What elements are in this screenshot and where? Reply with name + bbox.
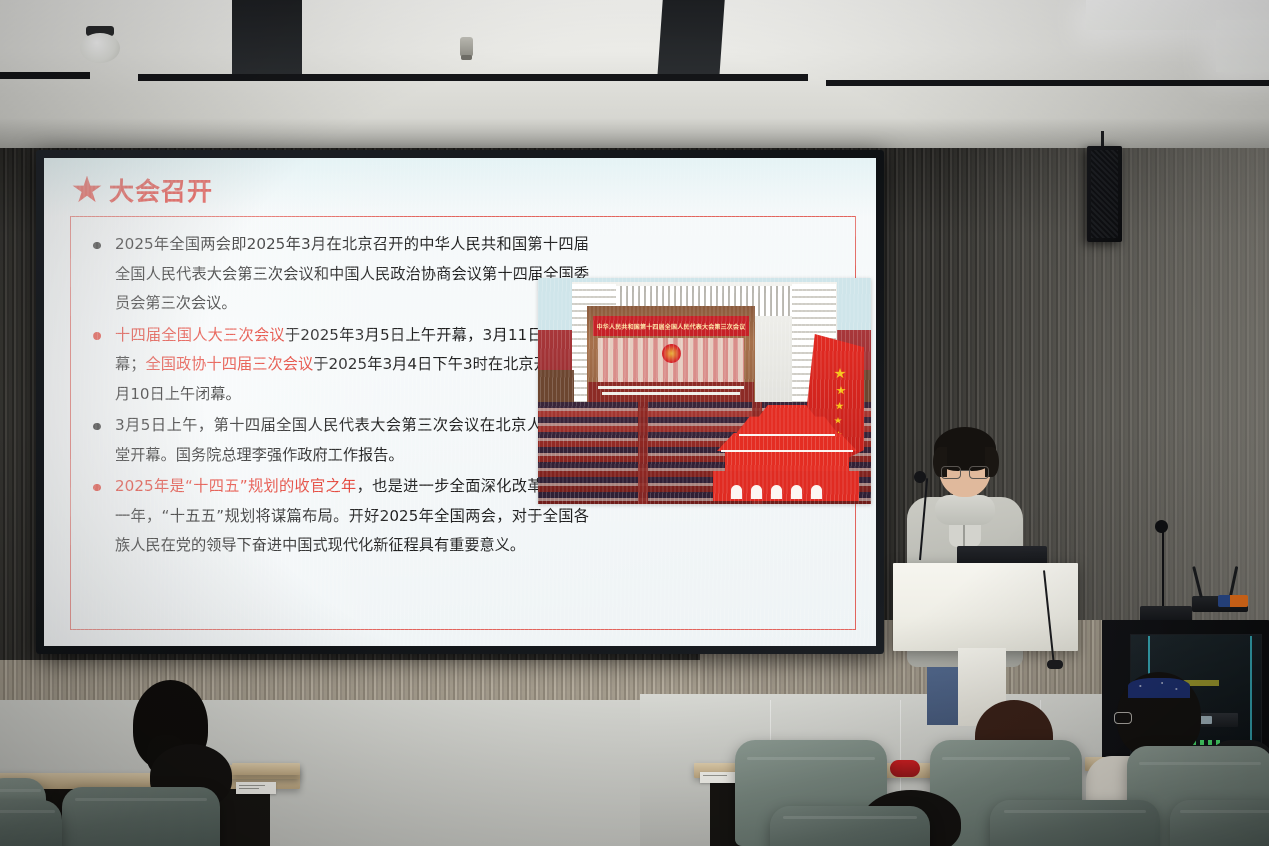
glasses-bridge — [959, 470, 971, 471]
tiananmen-outline — [739, 434, 835, 436]
bullet-run: 2025年是“十四五”规划的收官之年 — [115, 477, 357, 495]
ceiling-recess-line — [0, 72, 90, 79]
wall-speaker-icon — [1087, 146, 1122, 242]
air-vent-icon — [657, 0, 725, 80]
ceiling-lamp-icon — [78, 26, 122, 66]
bullet-run: 2025年全国两会即2025年3月在北京召开的中华人民共和国第十四届全国人民代表… — [115, 235, 589, 312]
ceiling-recess-line — [138, 74, 808, 81]
lecture-hall-scene: 大会召开 2025年全国两会即2025年3月在北京召开的中华人民共和国第十四届全… — [0, 0, 1269, 846]
ceiling-recess-line — [826, 80, 1269, 86]
projection-screen: 大会召开 2025年全国两会即2025年3月在北京召开的中华人民共和国第十四届全… — [44, 158, 876, 646]
bullet-run: 3月5日上午，第十四届全国人民代表大会第三次会议在北京人民大会堂开幕。国务院总理… — [115, 416, 589, 464]
audience-chair — [990, 800, 1160, 846]
bullet-run: 全国政协十四届三次会议 — [145, 355, 313, 373]
glasses-lens-left — [941, 466, 961, 479]
audience-desk — [232, 763, 300, 775]
photo-banner: 中华人民共和国第十四届全国人民代表大会第三次会议 — [593, 316, 749, 336]
audience-chair — [1170, 800, 1269, 846]
microphone-head — [914, 471, 926, 483]
bullet-item: 3月5日上午，第十四届全国人民代表大会第三次会议在北京人民大会堂开幕。国务院总理… — [85, 411, 589, 470]
paper-line — [703, 775, 727, 776]
arch — [771, 485, 782, 499]
arch — [811, 485, 822, 499]
red-object-on-desk — [890, 760, 920, 777]
desk-paper — [236, 782, 276, 794]
cable-adapter — [1218, 595, 1248, 607]
bullet-item: 2025年全国两会即2025年3月在北京召开的中华人民共和国第十四届全国人民代表… — [85, 230, 589, 319]
bullet-run: 十四届全国人大三次会议 — [115, 326, 285, 344]
desk-paper — [700, 772, 736, 783]
flag-star-icon — [836, 386, 846, 395]
smoke-detector-icon — [460, 37, 473, 57]
glasses-lens-right — [969, 466, 989, 479]
headband — [1128, 678, 1190, 698]
photo-rostrum-desk — [598, 386, 744, 389]
red-star-icon — [72, 176, 102, 205]
tiananmen-wall — [725, 449, 849, 473]
glasses-icon — [1114, 712, 1132, 724]
slide-title-text: 大会召开 — [109, 172, 213, 208]
lamp-globe — [80, 33, 120, 63]
bullet-item: 十四届全国人大三次会议于2025年3月5日上午开幕，3月11日下午闭幕；全国政协… — [85, 321, 589, 410]
flag-star-icon — [834, 368, 846, 379]
microphone-head — [1155, 520, 1168, 533]
audience-chair — [770, 806, 930, 846]
tiananmen-outline — [721, 450, 853, 452]
paper-line — [239, 785, 265, 786]
photo-rostrum-desk — [602, 392, 740, 395]
paper-line — [239, 788, 259, 789]
tiananmen-arches — [731, 485, 841, 499]
slide-title: 大会召开 — [72, 172, 213, 208]
photo-aisle — [638, 402, 648, 504]
audience-chair — [62, 787, 220, 846]
cable-connector — [1047, 660, 1063, 669]
arch — [791, 485, 802, 499]
photo-banner-text: 中华人民共和国第十四届全国人民代表大会第三次会议 — [597, 322, 746, 331]
bullet-item: 2025年是“十四五”规划的收官之年，也是进一步全面深化改革的重要一年，“十五五… — [85, 472, 589, 561]
arch — [731, 485, 742, 499]
arch — [751, 485, 762, 499]
photo-side-wall-left — [538, 370, 574, 404]
projection-screen-frame: 大会召开 2025年全国两会即2025年3月在北京召开的中华人民共和国第十四届全… — [36, 150, 884, 654]
tiananmen-roof-mid — [735, 415, 839, 435]
ceiling-light-strip — [1216, 20, 1269, 72]
air-vent-icon — [232, 0, 302, 78]
speaker-grill — [1091, 150, 1118, 238]
glasses-icon — [941, 466, 989, 477]
national-emblem-icon — [662, 344, 681, 363]
presenter-collar — [935, 495, 995, 525]
conference-microphone-icon — [1162, 527, 1164, 609]
tiananmen-graphic — [709, 401, 867, 501]
audience-chair — [0, 800, 62, 846]
